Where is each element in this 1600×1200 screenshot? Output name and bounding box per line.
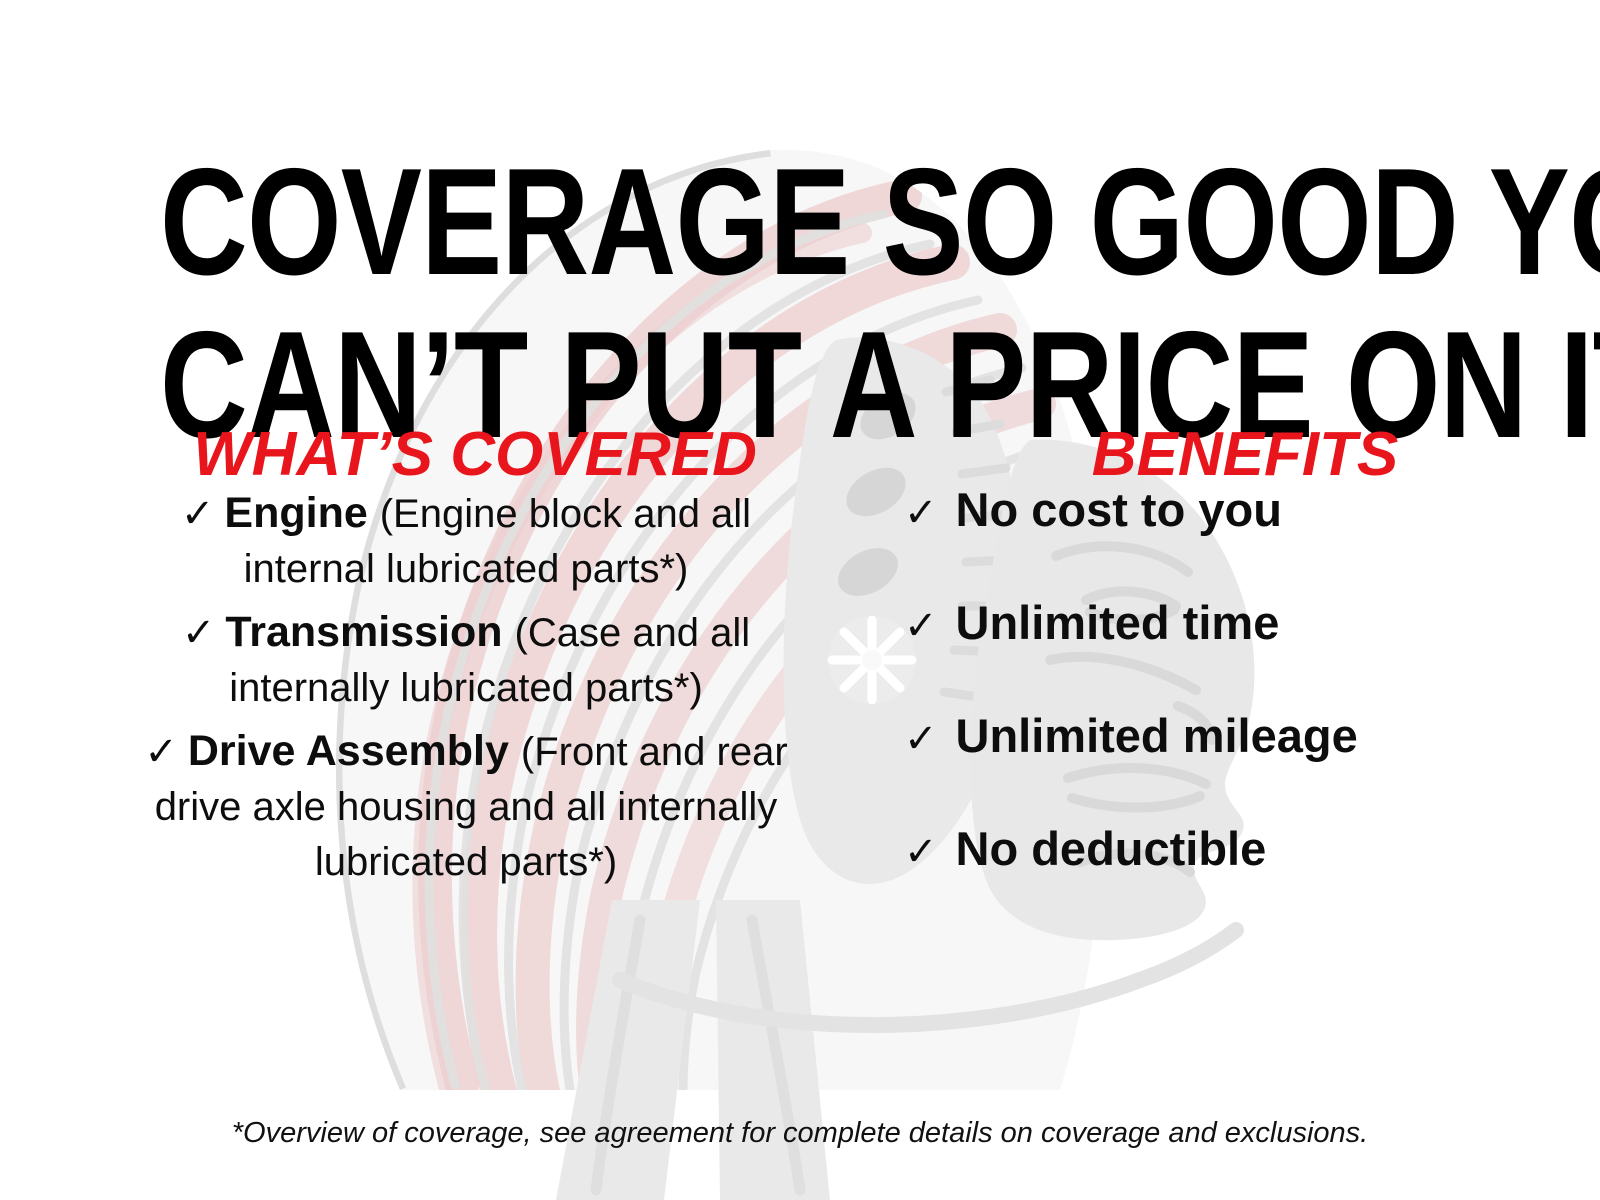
list-item: ✓No cost to you <box>880 486 1580 533</box>
benefits-items-list: ✓No cost to you ✓Unlimited time ✓Unlimit… <box>880 486 1580 872</box>
coverage-poster: COVERAGE SO GOOD YOU CAN’T PUT A PRICE O… <box>0 0 1600 1200</box>
list-item: ✓Transmission (Case and all internally l… <box>108 605 824 714</box>
covered-items-list: ✓Engine (Engine block and all internal l… <box>108 486 824 888</box>
check-icon: ✓ <box>904 717 938 761</box>
benefit-item-label: No cost to you <box>956 483 1282 536</box>
poster-content: COVERAGE SO GOOD YOU CAN’T PUT A PRICE O… <box>0 0 1600 1200</box>
covered-item-term: Engine <box>224 489 367 537</box>
whats-covered-heading: WHAT’S COVERED <box>108 424 824 486</box>
benefit-item-label: Unlimited time <box>956 596 1280 649</box>
check-icon: ✓ <box>904 604 938 648</box>
check-icon: ✓ <box>904 491 938 535</box>
whats-covered-column: WHAT’S COVERED ✓Engine (Engine block and… <box>108 424 824 898</box>
check-icon: ✓ <box>181 492 215 536</box>
covered-item-term: Transmission <box>225 608 502 656</box>
list-item: ✓Unlimited time <box>880 599 1580 646</box>
columns-wrapper: WHAT’S COVERED ✓Engine (Engine block and… <box>0 424 1600 1044</box>
benefits-column: BENEFITS ✓No cost to you ✓Unlimited time… <box>880 424 1580 938</box>
list-item: ✓Engine (Engine block and all internal l… <box>108 486 824 595</box>
benefit-item-label: No deductible <box>956 822 1267 875</box>
covered-item-term: Drive Assembly <box>188 727 509 775</box>
check-icon: ✓ <box>144 730 178 774</box>
headline-line-1: COVERAGE SO GOOD YOU <box>160 148 1440 297</box>
list-item: ✓No deductible <box>880 825 1580 872</box>
benefit-item-label: Unlimited mileage <box>956 709 1358 762</box>
page-title: COVERAGE SO GOOD YOU CAN’T PUT A PRICE O… <box>160 148 1440 460</box>
check-icon: ✓ <box>182 611 216 655</box>
list-item: ✓Drive Assembly (Front and rear drive ax… <box>108 724 824 888</box>
check-icon: ✓ <box>904 830 938 874</box>
benefits-heading: BENEFITS <box>880 424 1580 486</box>
footnote-disclaimer: *Overview of coverage, see agreement for… <box>0 1119 1600 1148</box>
list-item: ✓Unlimited mileage <box>880 712 1580 759</box>
